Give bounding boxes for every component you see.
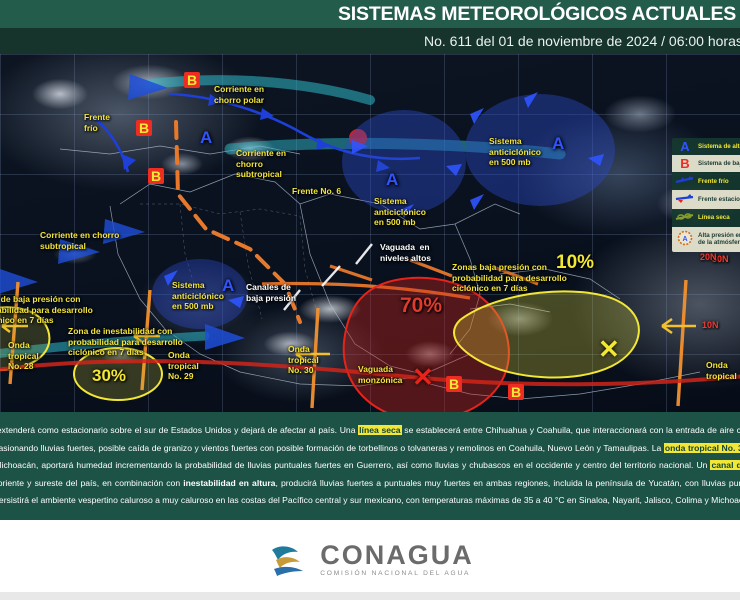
probability-30: 30% [92,366,126,386]
label-frente-frio: Frente frío [84,112,110,133]
map-legend: A Sistema de alta presión B Sistema de b… [672,138,740,252]
label-zona-baja-presion-left: Zona de baja presión con probabilidad pa… [0,294,93,326]
label-anticyclone-pacific: Sistema anticiclónico en 500 mb [172,280,224,312]
conagua-logo-icon [266,538,310,582]
legend-label-high-pressure: Sistema de alta presión [698,143,740,150]
legend-label-cold-front: Frente frío [698,178,740,185]
label-corriente-chorro-polar: Corriente en chorro polar [214,84,264,105]
footer-logo-bar: CONAGUA COMISIÓN NACIONAL DEL AGUA [0,520,740,600]
label-canales-baja-presion: Canales de baja presión [246,282,296,303]
legend-item-stationary-front: Frente estacionario [672,190,740,208]
map-vector-layer [0,54,740,412]
lat-label-20n: 20N [700,252,717,263]
label-onda-tropical-right: Onda tropical [706,360,737,381]
legend-item-cold-front: Frente frío [672,172,740,190]
marker-A-1: A [200,128,212,148]
forecast-description: El frente No. 6 se extenderá como estaci… [0,412,740,520]
label-corriente-chorro-subtropical-right: Corriente en chorro subtropical [236,148,286,180]
label-onda-tropical-30: Onda tropical No. 30 [288,344,319,376]
legend-item-low-pressure: B Sistema de baja presión [672,155,740,172]
jet-arrow-a [58,239,100,264]
page-title: SISTEMAS METEOROLÓGICOS ACTUALES [338,2,740,27]
label-vaguada-niveles-altos: Vaguada en niveles altos [380,242,431,263]
upper-trough [284,244,372,310]
polar-jet [150,80,370,100]
monsoon-trough [262,260,538,298]
marker-B-4: B [446,376,462,392]
label-anticyclone-gulf: Sistema anticiclónico en 500 mb [374,196,426,228]
label-onda-tropical-28: Onda tropical No. 28 [8,340,39,372]
front-low-center [349,129,367,147]
marker-A-3: A [552,134,564,154]
label-vaguada-monzonica: Vaguada monzónica [358,364,402,385]
legend-label-stationary-front: Frente estacionario [698,196,740,203]
tropical-wave-arrows [2,319,696,361]
legend-label-mid-level-high: Alta presión en niveles medios de la atm… [698,232,740,247]
satellite-cloud-layer [0,54,740,412]
letter-A-blue-icon: A [675,143,695,150]
weather-bulletin-page: SISTEMAS METEOROLÓGICOS ACTUALES No. 611… [0,0,740,600]
front-barb [122,154,136,170]
anticyclone-gulf [342,110,466,214]
x-marker-yellow: ✕ [598,334,620,365]
label-frente-no-6: Frente No. 6 [292,186,341,197]
legend-item-high-pressure: A Sistema de alta presión [672,138,740,155]
marker-A-2: A [386,170,398,190]
label-zonas-baja-presion-7dias: Zonas baja presión con probabilidad para… [452,262,567,294]
label-anticyclone-atlantic: Sistema anticiclónico en 500 mb [489,136,541,168]
label-onda-tropical-29: Onda tropical No. 29 [168,350,199,382]
svg-text:A: A [682,236,687,243]
legend-item-mid-level-high: A Alta presión en niveles medios de la a… [672,227,740,251]
weather-map[interactable]: Frente frío Corriente en chorro polar Co… [0,54,740,412]
zone-left-low-pressure [0,307,49,370]
subtropical-jet-left [0,336,205,354]
logo-subtitle: COMISIÓN NACIONAL DEL AGUA [320,569,474,579]
jet-arrow-c [0,269,38,294]
legend-label-low-pressure: Sistema de baja presión [698,160,740,167]
front-barb [260,108,274,120]
marker-A-4: A [222,276,234,296]
probability-70: 70% [400,294,442,318]
lat-label-10n: 10N [702,320,719,331]
front-barb [208,94,222,106]
marker-B-5: B [508,384,524,400]
conagua-logo-text: CONAGUA COMISIÓN NACIONAL DEL AGUA [320,541,474,579]
label-zona-inestabilidad: Zona de inestabilidad con probabilidad p… [68,326,183,358]
probability-10: 10% [556,252,594,274]
dry-line [176,122,300,322]
stationary-front-icon [675,193,695,205]
lat-label-30n: 30N [712,254,729,265]
bulletin-number-date: No. 611 del 01 de noviembre de 2024 / 06… [424,30,740,52]
logo-name: CONAGUA [320,541,474,569]
marker-B-3: B [148,168,164,184]
tropical-waves [10,280,686,408]
label-corriente-chorro-subtropical-left: Corriente en chorro subtropical [40,230,119,251]
marker-B-1: B [184,72,200,88]
subtropical-jet-right [230,143,560,154]
jet-arrow-left [205,324,245,350]
legend-item-dry-line: Línea seca [672,209,740,227]
front-barb [316,138,330,150]
cold-front-icon [675,175,695,187]
bottom-strip [0,592,740,600]
dry-line-icon [675,212,695,224]
border-paths [140,204,318,319]
legend-label-dry-line: Línea seca [698,214,740,221]
jet-arrow-b [103,219,145,244]
mid-level-high-icon: A [675,230,695,248]
letter-B-red-icon: B [675,160,695,167]
marker-B-2: B [136,120,152,136]
lat-lon-grid [0,54,740,412]
jet-arrow-polar [128,74,168,100]
anticyclone-atlantic [465,94,615,206]
x-marker-red: ✕ [412,362,434,393]
description-text: El frente No. 6 se extenderá como estaci… [0,422,740,510]
